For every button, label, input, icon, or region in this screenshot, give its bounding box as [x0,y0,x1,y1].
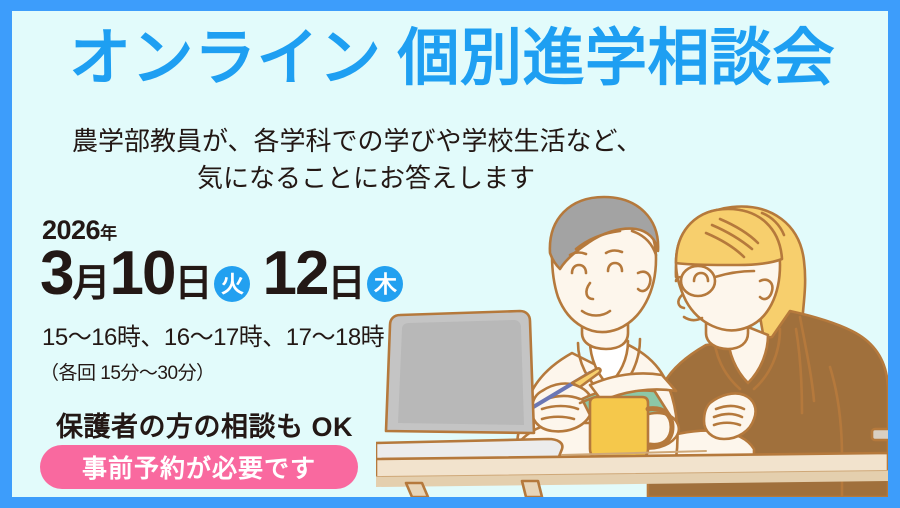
page-title: オンライン個別進学相談会 [34,27,870,91]
event-date-line: 3 月 10 日 火 12 日 木 [40,243,405,305]
day1-number: 10 [110,243,175,305]
month-number: 3 [40,243,72,305]
month-kanji: 月 [72,265,109,305]
day2-kanji: 日 [327,265,364,305]
day1-kanji: 日 [174,265,211,305]
time-slots: 15〜16時、16〜17時、17〜18時 [42,324,384,353]
illustration-two-people-at-desk [376,177,888,497]
subtitle-line-1: 農学部教員が、各学科での学びや学校生活など、 [72,123,632,160]
day1-weekday-badge: 火 [214,266,250,302]
banner-frame: オンライン個別進学相談会 農学部教員が、各学科での学びや学校生活など、 気になる… [0,0,900,508]
title-part1: オンライン [69,24,382,93]
subtitle-line-2: 気になることにお答えします [72,160,632,197]
title-part2: 個別進学相談会 [398,24,836,93]
session-duration: （各回 15分〜30分） [40,358,215,385]
day2-weekday-badge: 木 [367,266,403,302]
subtitle: 農学部教員が、各学科での学びや学校生活など、 気になることにお答えします [72,123,632,197]
reservation-required-badge: 事前予約が必要です [40,445,358,489]
banner-stage: オンライン個別進学相談会 農学部教員が、各学科での学びや学校生活など、 気になる… [12,11,888,497]
day2-number: 12 [262,243,327,305]
guardian-note: 保護者の方の相談も OK [56,405,353,444]
